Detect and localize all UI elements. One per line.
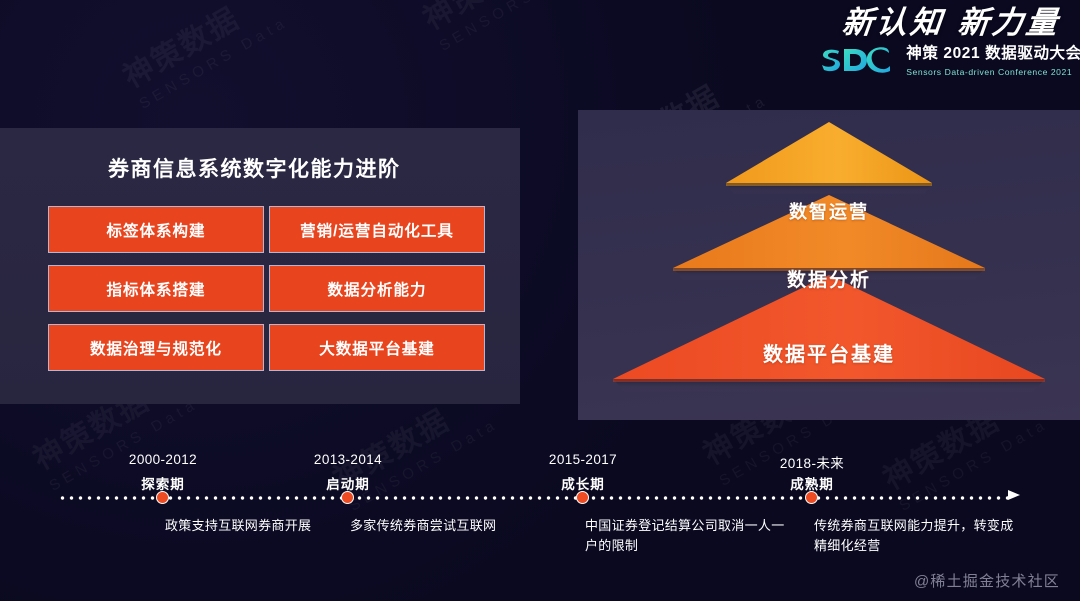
maturity-pyramid: 数智运营 数据分析 数据平台基建 (578, 110, 1080, 420)
pyramid-tier-label: 数据分析 (578, 265, 1080, 292)
watermark-brand-cn: 神策数据 (118, 2, 245, 95)
logo-title-cn: 神策 2021 数据驱动大会 (906, 45, 1080, 62)
conference-logo: 新认知 新力量 神策 2021 数据驱动大会 (836, 8, 1066, 80)
pyramid-panel: 数智运营 数据分析 数据平台基建 (578, 110, 1080, 420)
timeline-stage: 成长期 (523, 473, 643, 493)
sdc-logo-icon (820, 46, 892, 79)
watermark-brand-2: 神策数据 SENSORS Data (417, 0, 592, 56)
timeline-period: 2018-未来 (752, 452, 872, 472)
watermark-brand-1: 神策数据 SENSORS Data (117, 0, 292, 114)
watermark-brand-cn: 神策数据 (418, 0, 545, 36)
timeline-stage: 启动期 (288, 473, 408, 493)
timeline-dot-icon[interactable] (576, 491, 589, 504)
pyramid-tier-label: 数智运营 (578, 198, 1080, 224)
timeline-description: 多家传统券商尝试互联网 (350, 516, 550, 536)
capability-box[interactable]: 数据治理与规范化 (48, 324, 264, 371)
event-slogan: 新认知 新力量 (834, 8, 1067, 39)
timeline-dot-icon[interactable] (156, 491, 169, 504)
capability-box[interactable]: 标签体系构建 (48, 206, 264, 253)
footer-credit-watermark: @稀土掘金技术社区 (914, 570, 1060, 591)
watermark-brand-en: SENSORS Data (436, 0, 592, 56)
capability-box[interactable]: 指标体系搭建 (48, 265, 264, 312)
timeline-description: 政策支持互联网券商开展 (165, 516, 365, 536)
timeline-dot-icon[interactable] (341, 491, 354, 504)
timeline-arrow-icon (1008, 490, 1020, 500)
capability-panel: 券商信息系统数字化能力进阶 标签体系构建 营销/运营自动化工具 指标体系搭建 数… (0, 128, 520, 404)
timeline-stage: 探索期 (103, 473, 223, 493)
timeline-dot-icon[interactable] (805, 491, 818, 504)
timeline-stage: 成熟期 (752, 473, 872, 493)
watermark-brand-en: SENSORS Data (136, 13, 292, 114)
timeline-description: 中国证券登记结算公司取消一人一户的限制 (585, 516, 785, 556)
capability-grid: 标签体系构建 营销/运营自动化工具 指标体系搭建 数据分析能力 数据治理与规范化… (48, 206, 485, 371)
logo-title-en: Sensors Data-driven Conference 2021 (906, 67, 1072, 77)
page-title: 券商信息系统数字化能力进阶 (108, 153, 401, 183)
timeline-period: 2015-2017 (523, 452, 643, 467)
capability-box[interactable]: 大数据平台基建 (269, 324, 485, 371)
capability-box[interactable]: 数据分析能力 (269, 265, 485, 312)
timeline-period: 2013-2014 (288, 452, 408, 467)
slide-root: 神策数据 SENSORS Data 神策数据 SENSORS Data 神策数据… (0, 0, 1080, 601)
pyramid-tier-label: 数据平台基建 (578, 338, 1080, 367)
capability-box[interactable]: 营销/运营自动化工具 (269, 206, 485, 253)
timeline-axis (58, 496, 1010, 500)
timeline-period: 2000-2012 (103, 452, 223, 467)
timeline-description: 传统券商互联网能力提升，转变成精细化经营 (814, 516, 1014, 556)
timeline: 2000-2012 探索期 政策支持互联网券商开展 2013-2014 启动期 … (0, 440, 1080, 570)
